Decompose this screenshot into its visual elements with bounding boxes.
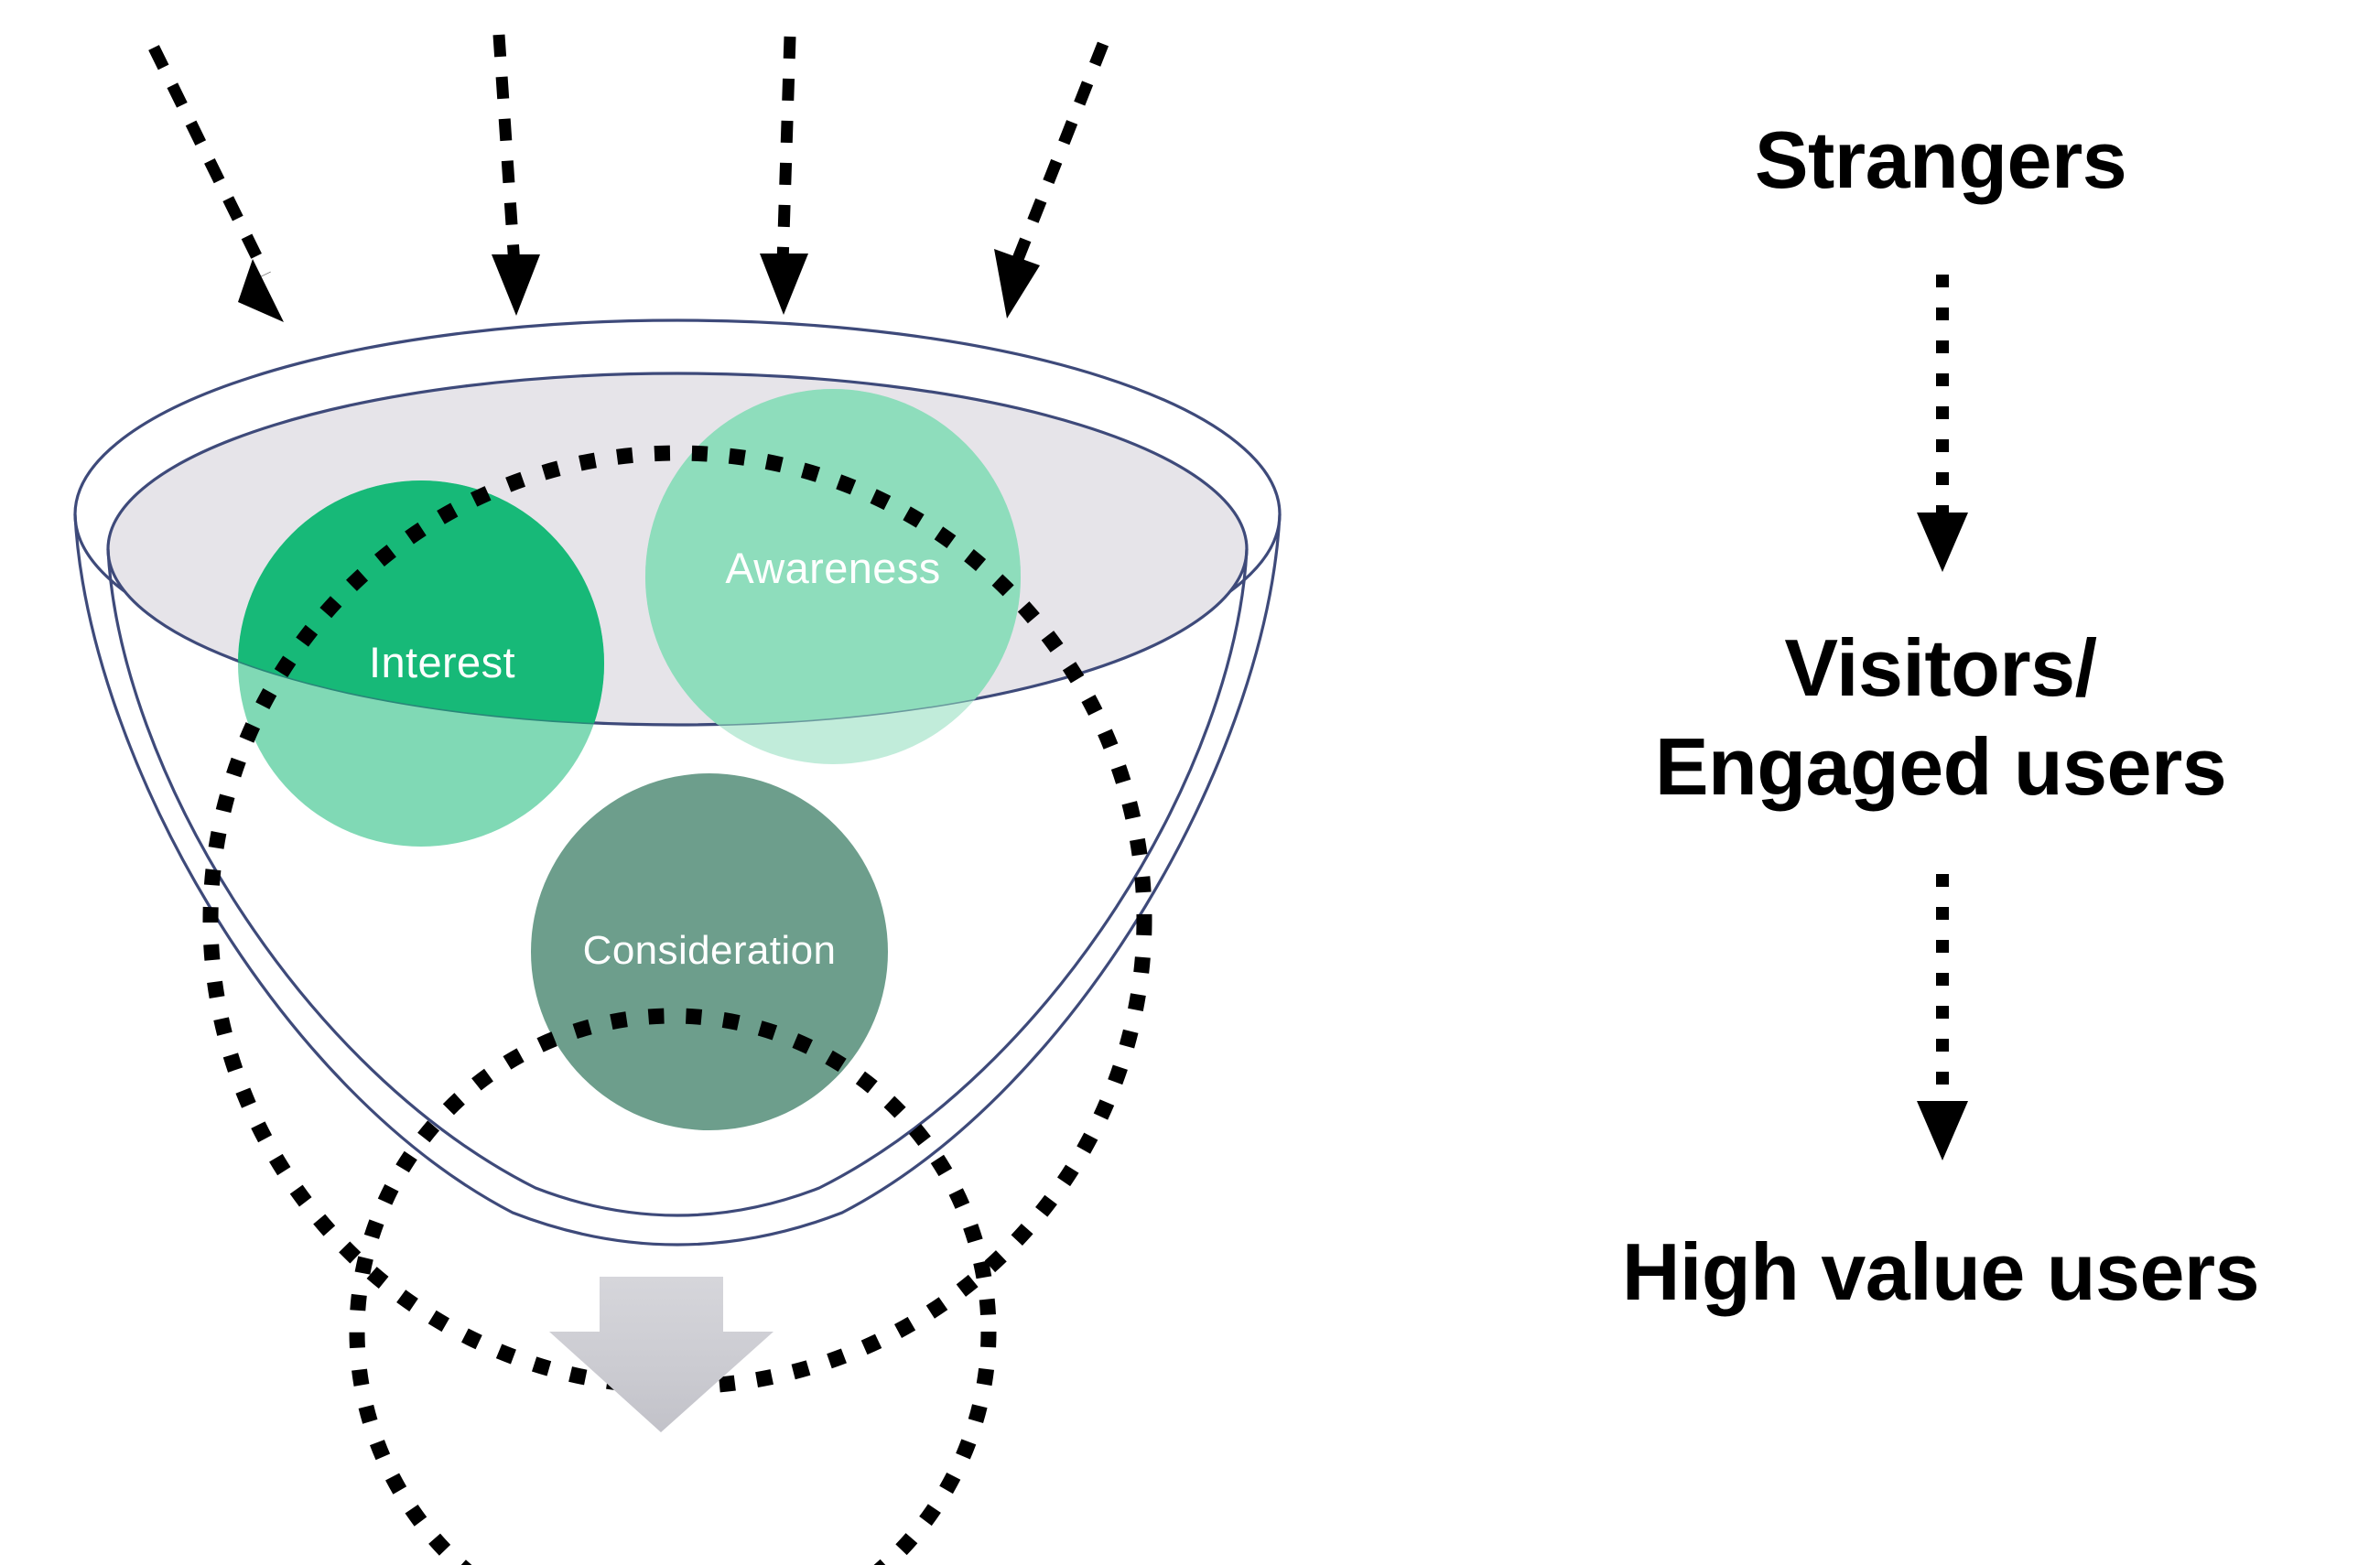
stage-label-awareness: Awareness <box>725 544 940 592</box>
funnel-diagram: Awareness Interest Consideration Strange… <box>0 0 2380 1565</box>
journey-arrow-1 <box>1917 275 1968 572</box>
inflow-arrow-4 <box>994 44 1103 318</box>
inflow-arrow-3 <box>760 37 808 315</box>
inflow-arrow-1 <box>154 48 284 322</box>
journey-column: Strangers Visitors/ Engaged users High v… <box>1622 114 2259 1317</box>
diagram-canvas: Awareness Interest Consideration Strange… <box>0 0 2380 1565</box>
inflow-arrow-2 <box>492 35 540 316</box>
stage-label-interest: Interest <box>369 638 515 686</box>
journey-label-high-value: High value users <box>1622 1226 2259 1317</box>
conversion-arrow <box>549 1277 773 1432</box>
journey-label-visitors-line2: Engaged users <box>1655 721 2226 812</box>
journey-label-visitors-line1: Visitors/ <box>1784 622 2096 713</box>
journey-arrow-2 <box>1917 874 1968 1160</box>
journey-label-strangers: Strangers <box>1755 114 2126 205</box>
inflow-arrows-group <box>154 35 1103 322</box>
stage-label-consideration: Consideration <box>583 928 837 973</box>
